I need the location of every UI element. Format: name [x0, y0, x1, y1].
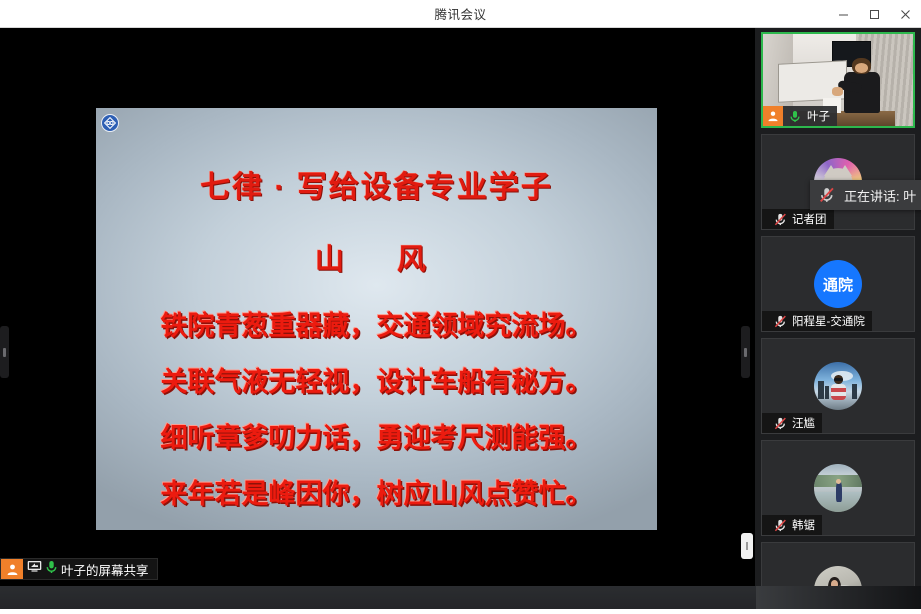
mic-muted-icon — [772, 315, 788, 328]
share-status-label: 叶子的屏幕共享 — [61, 559, 157, 579]
lakeside-portrait-photo — [814, 464, 862, 512]
shared-screen-stage[interactable]: 七律 · 写给设备专业学子 山 风 铁院青葱重器藏，交通领域究流场。 关联气液无… — [0, 28, 755, 586]
mic-on-icon — [45, 560, 58, 579]
left-panel-collapse-handle[interactable] — [0, 326, 9, 378]
right-panel-collapse-handle[interactable] — [741, 326, 750, 378]
speaking-tooltip-text: 正在讲话: 叶 — [844, 186, 916, 205]
presentation-slide: 七律 · 写给设备专业学子 山 风 铁院青葱重器藏，交通领域究流场。 关联气液无… — [96, 108, 657, 530]
poem-line: 来年若是峰因你，树应山风点赞忙。 — [96, 466, 657, 522]
share-status-icons — [23, 559, 61, 579]
participant-name: 阳程星-交通院 — [792, 313, 865, 329]
host-person-icon — [1, 559, 23, 579]
screen-share-icon — [27, 560, 42, 578]
screen-share-status-bar: 叶子的屏幕共享 — [0, 558, 158, 580]
host-person-icon — [763, 106, 783, 126]
participant-name: 叶子 — [807, 108, 830, 124]
poem-line: 铁院青葱重器藏，交通领域究流场。 — [96, 298, 657, 354]
mic-muted-icon — [810, 187, 844, 203]
window-title: 腾讯会议 — [434, 4, 486, 23]
title-bar: 腾讯会议 — [0, 0, 921, 28]
participant-tile[interactable]: 叶子 — [761, 32, 915, 128]
participant-nameplate: 阳程星-交通院 — [762, 311, 872, 331]
window-controls — [828, 0, 921, 28]
beach-portrait-photo — [814, 362, 862, 410]
avatar-initials: 通院 — [823, 274, 853, 295]
participant-nameplate: 韩锯 — [762, 515, 822, 535]
participant-name: 汪尴 — [792, 415, 815, 431]
slide-author: 山 风 — [96, 236, 657, 278]
initials-avatar: 通院 — [814, 260, 862, 308]
participant-nameplate: 汪尴 — [762, 413, 822, 433]
participant-name: 记者团 — [792, 211, 827, 227]
speaking-tooltip: 正在讲话: 叶 — [810, 180, 921, 210]
participant-rail[interactable]: 叶子 记者团 — [755, 28, 921, 586]
poem-line: 细听章爹叨力话，勇迎考尺测能强。 — [96, 410, 657, 466]
diamond-link-icon — [101, 114, 119, 132]
mic-muted-icon — [772, 519, 788, 532]
maximize-button[interactable] — [859, 0, 890, 28]
participant-nameplate: 叶子 — [763, 106, 837, 126]
mic-on-icon — [787, 110, 803, 123]
slide-side-tab-handle[interactable] — [741, 533, 753, 559]
participant-nameplate: 记者团 — [762, 209, 834, 229]
mic-muted-icon — [772, 417, 788, 430]
os-taskbar[interactable] — [0, 586, 921, 614]
participant-tile[interactable]: 通院 阳程星-交通院 — [761, 236, 915, 332]
minimize-button[interactable] — [828, 0, 859, 28]
slide-title: 七律 · 写给设备专业学子 — [96, 162, 657, 206]
poem-line: 关联气液无轻视，设计车船有秘方。 — [96, 354, 657, 410]
mic-muted-icon — [772, 213, 788, 226]
participant-name: 韩锯 — [792, 517, 815, 533]
participant-tile[interactable]: 韩锯 — [761, 440, 915, 536]
close-button[interactable] — [890, 0, 921, 28]
poem-body: 铁院青葱重器藏，交通领域究流场。 关联气液无轻视，设计车船有秘方。 细听章爹叨力… — [96, 298, 657, 522]
participant-tile[interactable]: 汪尴 — [761, 338, 915, 434]
taskbar-bottom-strip — [0, 609, 921, 614]
tencent-meeting-window: 腾讯会议 七律 · 写给设备专业学子 山 风 — [0, 0, 921, 614]
